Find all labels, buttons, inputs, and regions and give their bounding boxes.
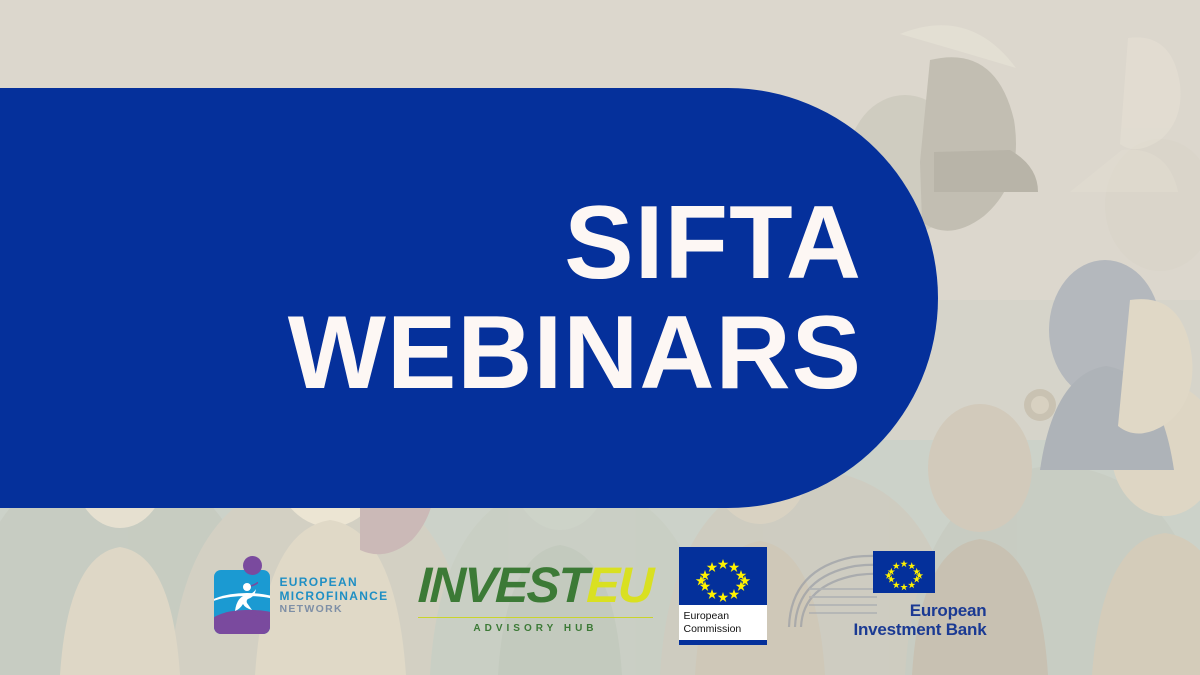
emn-mark-card: e-m-n xyxy=(214,570,270,634)
investeu-word-invest: INVEST xyxy=(417,557,588,613)
ec-line-european: European xyxy=(684,610,762,623)
emn-wordmark: EUROPEAN MICROFINANCE NETWORK xyxy=(280,575,389,616)
emn-person-icon xyxy=(228,582,258,616)
logo-european-commission: European Commission xyxy=(679,547,767,645)
emn-line-european: EUROPEAN xyxy=(280,575,389,589)
promo-banner: SIFTA WEBINARS e-m-n EUROP xyxy=(0,0,1200,675)
partner-logo-strip: e-m-n EUROPEAN MICROFINANCE NETWORK INVE… xyxy=(0,540,1200,650)
eu-flag-icon xyxy=(679,547,767,605)
emn-line-microfinance: MICROFINANCE xyxy=(280,589,389,603)
eu-stars-icon xyxy=(679,547,767,605)
ec-bottom-bar xyxy=(679,640,767,645)
ec-name-block: European Commission xyxy=(679,605,767,640)
logo-investeu-advisory-hub: INVESTEU ADVISORY HUB xyxy=(418,560,652,634)
eu-flag-icon xyxy=(873,551,935,593)
investeu-word-eu: EU xyxy=(586,557,653,613)
logo-european-investment-bank: European Investment Bank xyxy=(797,551,987,639)
emn-logo-mark: e-m-n xyxy=(214,556,270,634)
investeu-wordmark: INVESTEU xyxy=(418,560,654,610)
headline-line-sifta: SIFTA xyxy=(564,188,862,298)
emn-balloon-icon xyxy=(243,556,262,575)
emn-line-network: NETWORK xyxy=(280,603,389,615)
investeu-tagline: ADVISORY HUB xyxy=(418,623,652,634)
ec-line-commission: Commission xyxy=(684,623,762,636)
headline-text-block: SIFTA WEBINARS xyxy=(0,88,862,508)
emn-monogram: e-m-n xyxy=(244,612,266,621)
headline-line-webinars: WEBINARS xyxy=(288,298,862,408)
eu-stars-icon xyxy=(873,551,935,593)
investeu-divider-line xyxy=(418,617,652,618)
logo-european-microfinance-network: e-m-n EUROPEAN MICROFINANCE NETWORK xyxy=(214,550,389,640)
